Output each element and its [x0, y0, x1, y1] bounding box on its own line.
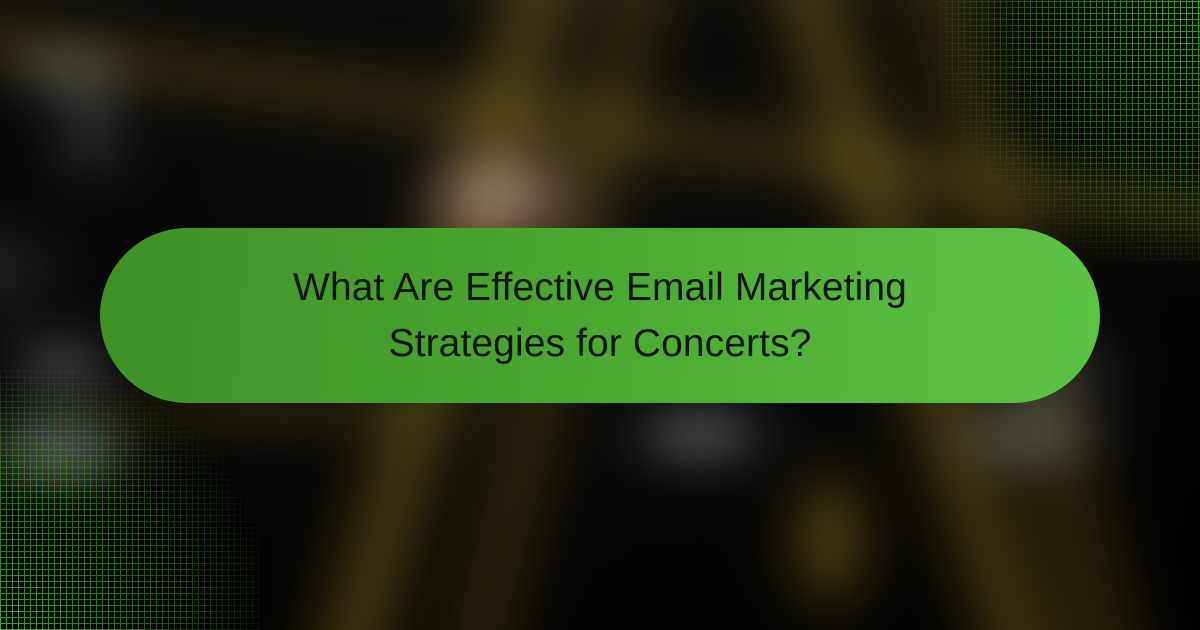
title-banner: What Are Effective Email Marketing Strat…	[100, 228, 1100, 403]
social-share-card: What Are Effective Email Marketing Strat…	[0, 0, 1200, 630]
banner-title-text: What Are Effective Email Marketing Strat…	[210, 260, 990, 371]
